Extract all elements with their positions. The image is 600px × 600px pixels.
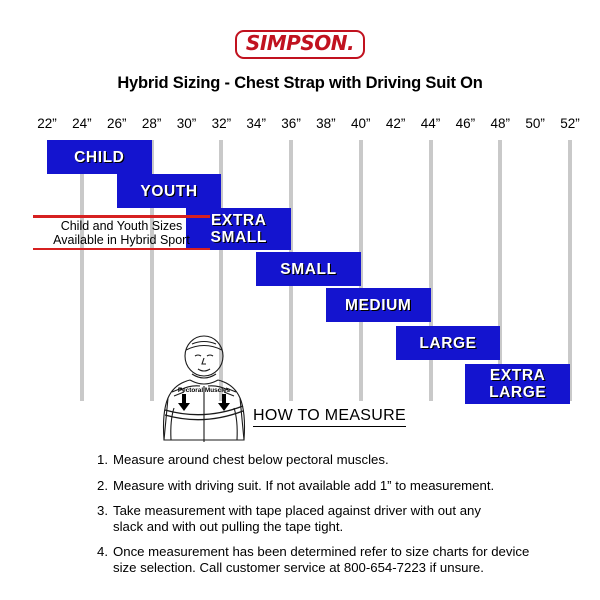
size-bar-label: CHILD (74, 149, 124, 166)
how-to-measure-heading: HOW TO MEASURE (253, 407, 406, 427)
tick-label-52: 52” (550, 116, 590, 131)
driver-line-art: Pectoral Muscles (148, 330, 260, 442)
size-bar-youth: YOUTH (117, 174, 222, 208)
size-bar-large: LARGE (396, 326, 501, 360)
child-youth-note: Child and Youth Sizes Available in Hybri… (33, 215, 210, 250)
size-bar-label: EXTRA SMALL (211, 212, 267, 246)
size-bar-label: YOUTH (140, 183, 197, 200)
instruction-text: Measure around chest below pectoral musc… (113, 452, 537, 468)
pectoral-muscles-label: Pectoral Muscles (178, 387, 231, 394)
gridline-48 (498, 140, 502, 401)
size-bar-medium: MEDIUM (326, 288, 431, 322)
size-bar-label: LARGE (419, 335, 476, 352)
instruction-number: 3. (97, 503, 113, 534)
size-bar-extra-large: EXTRA LARGE (465, 364, 570, 404)
note-rule-bottom (33, 248, 210, 251)
instruction-text: Take measurement with tape placed agains… (113, 503, 537, 534)
instruction-text: Measure with driving suit. If not availa… (113, 478, 537, 494)
gridline-52 (568, 140, 572, 401)
gridline-44 (429, 140, 433, 401)
instruction-number: 1. (97, 452, 113, 468)
size-bar-label: MEDIUM (345, 297, 411, 314)
instruction-number: 4. (97, 544, 113, 575)
note-text: Child and Youth Sizes Available in Hybri… (33, 218, 210, 248)
instruction-item: 3.Take measurement with tape placed agai… (97, 503, 537, 534)
size-bar-label: EXTRA LARGE (489, 367, 546, 401)
instructions-list: 1.Measure around chest below pectoral mu… (97, 452, 537, 585)
instruction-number: 2. (97, 478, 113, 494)
instruction-text: Once measurement has been determined ref… (113, 544, 537, 575)
driver-illustration: Pectoral Muscles (148, 330, 260, 442)
gridline-24 (80, 140, 84, 401)
size-bar-small: SMALL (256, 252, 361, 286)
sizing-chart: 22”24”26”28”30”32”34”36”38”40”42”44”46”4… (0, 0, 600, 420)
instruction-item: 1.Measure around chest below pectoral mu… (97, 452, 537, 468)
size-bar-label: SMALL (280, 261, 336, 278)
size-bar-child: CHILD (47, 140, 152, 174)
instruction-item: 4.Once measurement has been determined r… (97, 544, 537, 575)
instruction-item: 2.Measure with driving suit. If not avai… (97, 478, 537, 494)
